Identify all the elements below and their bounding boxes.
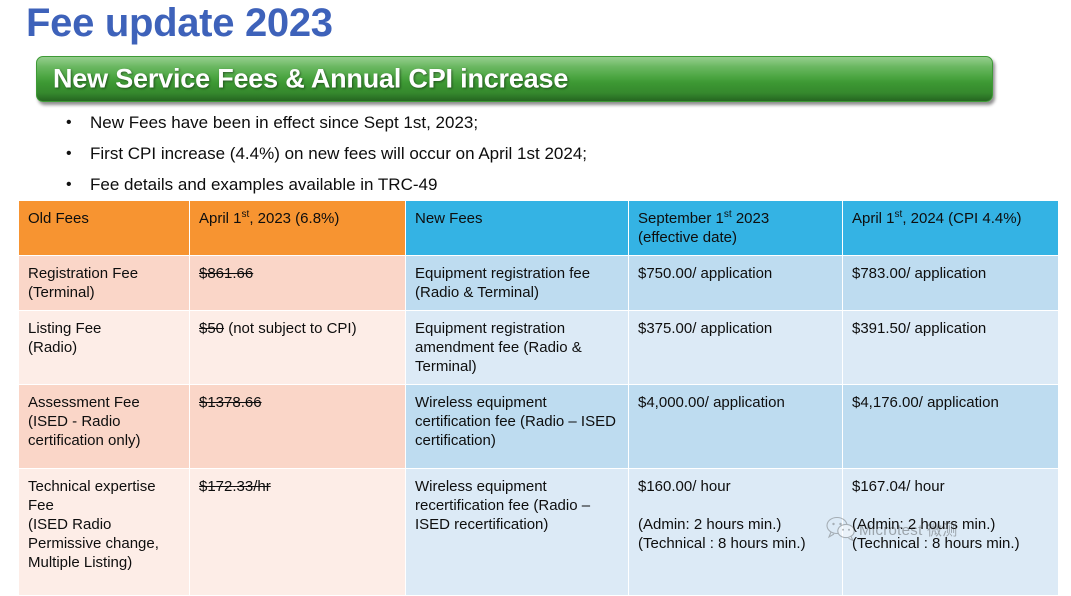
cell-new-fee: Equipment registration fee (Radio & Term… [406,256,628,310]
struck-price: $1378.66 [199,394,262,411]
cell-april-2024: $391.50/ application [843,311,1058,384]
table-header-row: Old Fees April 1st, 2023 (6.8%) New Fees… [19,201,1058,255]
price-value: $167.04/ hour [852,478,945,495]
table-row: Registration Fee(Terminal) $861.66 Equip… [19,256,1058,310]
page-title: Fee update 2023 [26,0,333,46]
cell-new-fee: Equipment registration amendment fee (Ra… [406,311,628,384]
cell-april-2023: $861.66 [190,256,405,310]
price-note: (not subject to CPI) [224,320,357,337]
cell-september-2023: $4,000.00/ application [629,385,842,468]
bullet-marker-icon: • [58,172,90,197]
bullet-text: New Fees have been in effect since Sept … [90,110,478,135]
spacer [852,496,1050,515]
ordinal-suffix: st [895,209,903,220]
bullet-marker-icon: • [58,110,90,135]
price-value: $160.00/ hour [638,478,731,495]
table-row: Technical expertise Fee(ISED Radio Permi… [19,469,1058,595]
ordinal-suffix: st [242,209,250,220]
bullet-text: Fee details and examples available in TR… [90,172,437,197]
header-text: April 1st, 2023 (6.8%) [199,210,339,227]
table-row: Listing Fee(Radio) $50 (not subject to C… [19,311,1058,384]
spacer [638,496,834,515]
banner-title: New Service Fees & Annual CPI increase [53,64,568,95]
cell-april-2024: $783.00/ application [843,256,1058,310]
struck-price: $50 [199,320,224,337]
cell-september-2023: $375.00/ application [629,311,842,384]
ordinal-suffix: st [724,209,732,220]
cell-september-2023: $160.00/ hour(Admin: 2 hours min.)(Techn… [629,469,842,595]
cell-april-2023: $50 (not subject to CPI) [190,311,405,384]
header-text: New Fees [415,210,483,227]
cell-april-2023: $1378.66 [190,385,405,468]
struck-price: $861.66 [199,265,253,282]
bullet-list: • New Fees have been in effect since Sep… [58,110,958,203]
table-row: Assessment Fee(ISED - Radio certificatio… [19,385,1058,468]
list-item: • First CPI increase (4.4%) on new fees … [58,141,958,168]
price-note: (Admin: 2 hours min.)(Technical : 8 hour… [852,516,1020,552]
bullet-marker-icon: • [58,141,90,166]
cell-new-fee: Wireless equipment recertification fee (… [406,469,628,595]
price-note: (Admin: 2 hours min.)(Technical : 8 hour… [638,516,806,552]
list-item: • Fee details and examples available in … [58,172,958,199]
cell-april-2024: $167.04/ hour(Admin: 2 hours min.)(Techn… [843,469,1058,595]
list-item: • New Fees have been in effect since Sep… [58,110,958,137]
cell-april-2024: $4,176.00/ application [843,385,1058,468]
header-text: April 1st, 2024 (CPI 4.4%) [852,210,1022,227]
cell-september-2023: $750.00/ application [629,256,842,310]
column-header-april-2024: April 1st, 2024 (CPI 4.4%) [843,201,1058,255]
header-text: Old Fees [28,210,89,227]
cell-old-fee: Technical expertise Fee(ISED Radio Permi… [19,469,189,595]
fee-comparison-table: Old Fees April 1st, 2023 (6.8%) New Fees… [18,200,1059,596]
column-header-september-2023: September 1st 2023(effective date) [629,201,842,255]
cell-april-2023: $172.33/hr [190,469,405,595]
bullet-text: First CPI increase (4.4%) on new fees wi… [90,141,587,166]
cell-old-fee: Registration Fee(Terminal) [19,256,189,310]
column-header-old-fees: Old Fees [19,201,189,255]
cell-old-fee: Listing Fee(Radio) [19,311,189,384]
column-header-new-fees: New Fees [406,201,628,255]
cell-new-fee: Wireless equipment certification fee (Ra… [406,385,628,468]
column-header-april-2023: April 1st, 2023 (6.8%) [190,201,405,255]
struck-price: $172.33/hr [199,478,271,495]
section-banner: New Service Fees & Annual CPI increase [36,56,993,102]
cell-old-fee: Assessment Fee(ISED - Radio certificatio… [19,385,189,468]
header-text: September 1st 2023(effective date) [638,210,769,246]
